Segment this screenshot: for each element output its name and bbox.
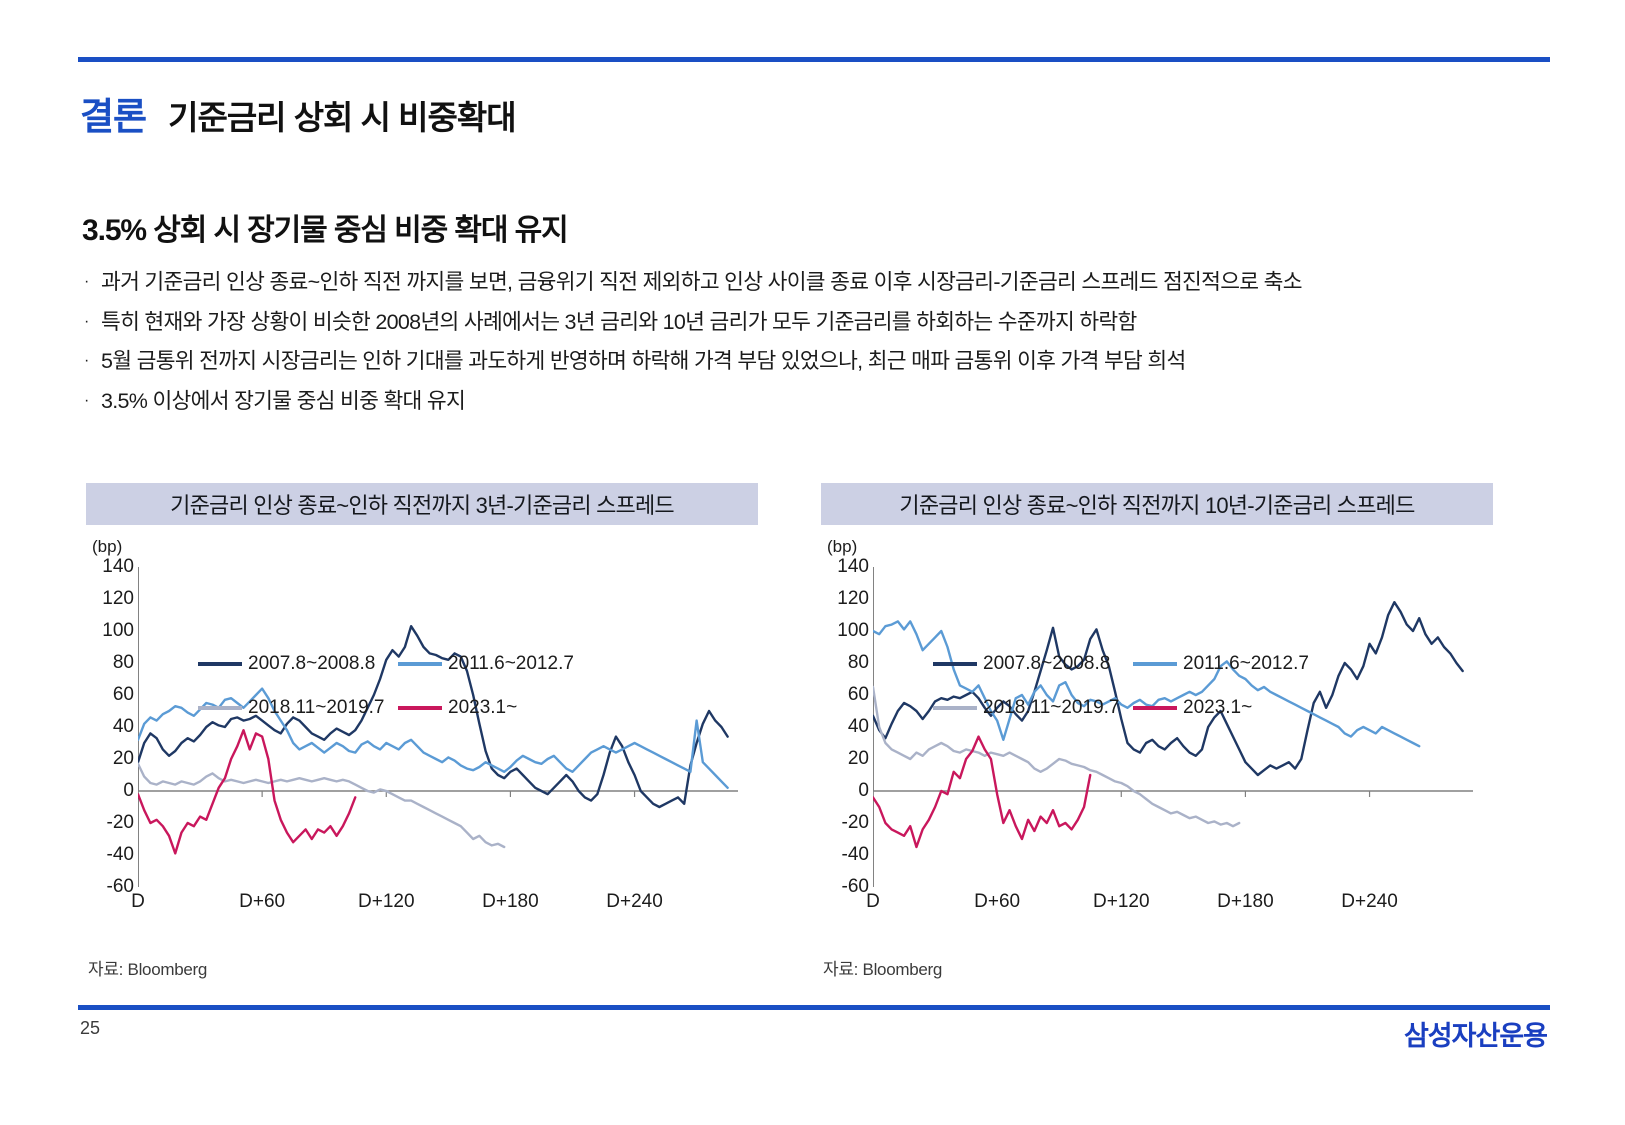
top-divider xyxy=(78,57,1550,62)
y-axis-labels-3y: 140120100806040200-20-40-60 xyxy=(86,567,134,887)
series-line xyxy=(138,730,355,853)
x-axis-labels-3y: DD+60D+120D+180D+240 xyxy=(138,891,738,921)
y-tick-label: 120 xyxy=(102,588,134,610)
y-tick-label: 20 xyxy=(848,748,869,770)
x-tick-label: D xyxy=(866,891,880,913)
section-heading: 3.5% 상회 시 장기물 중심 비중 확대 유지 xyxy=(82,205,568,249)
plot-area-3y: 140120100806040200-20-40-60 DD+60D+120D+… xyxy=(86,567,758,917)
y-tick-label: 60 xyxy=(848,684,869,706)
page-number: 25 xyxy=(80,1018,100,1039)
y-tick-label: 0 xyxy=(858,780,869,802)
bottom-divider xyxy=(78,1005,1550,1010)
line-chart-svg-10y xyxy=(873,567,1473,887)
x-tick-label: D+60 xyxy=(974,891,1020,913)
series-line xyxy=(873,621,1419,746)
page-header: 결론 기준금리 상회 시 비중확대 xyxy=(80,86,516,140)
y-tick-label: 120 xyxy=(837,588,869,610)
y-axis-labels-10y: 140120100806040200-20-40-60 xyxy=(821,567,869,887)
chart-source-3y: 자료: Bloomberg xyxy=(88,955,207,980)
bullet-text: 5월 금통위 전까지 시장금리는 인하 기대를 과도하게 반영하며 하락해 가격… xyxy=(101,351,1186,373)
line-chart-svg-3y xyxy=(138,567,738,887)
y-tick-label: 0 xyxy=(123,780,134,802)
brand-logo: 삼성자산운용 xyxy=(1404,1014,1547,1053)
x-tick-label: D+180 xyxy=(1217,891,1274,913)
x-tick-label: D+120 xyxy=(1093,891,1150,913)
x-tick-label: D+240 xyxy=(1341,891,1398,913)
bullet-marker-icon: · xyxy=(84,351,101,371)
chart-panel-3y: 기준금리 인상 종료~인하 직전까지 3년-기준금리 스프레드 (bp) 140… xyxy=(86,483,758,963)
bullet-item: · 3.5% 이상에서 장기물 중심 비중 확대 유지 xyxy=(84,391,1564,413)
bullet-item: · 특히 현재와 가장 상황이 비슷한 2008년의 사례에서는 3년 금리와 … xyxy=(84,312,1564,334)
x-tick-label: D+180 xyxy=(482,891,539,913)
y-tick-label: -60 xyxy=(107,876,134,898)
y-tick-label: 80 xyxy=(848,652,869,674)
bullet-item: · 과거 기준금리 인상 종료~인하 직전 까지를 보면, 금융위기 직전 제외… xyxy=(84,272,1564,294)
y-tick-label: 100 xyxy=(102,620,134,642)
series-line xyxy=(138,764,504,847)
y-tick-label: 40 xyxy=(113,716,134,738)
x-tick-label: D xyxy=(131,891,145,913)
y-tick-label: -20 xyxy=(107,812,134,834)
chart-title-10y: 기준금리 인상 종료~인하 직전까지 10년-기준금리 스프레드 xyxy=(821,483,1493,525)
bullet-list: · 과거 기준금리 인상 종료~인하 직전 까지를 보면, 금융위기 직전 제외… xyxy=(84,272,1564,430)
y-tick-label: -20 xyxy=(842,812,869,834)
bullet-marker-icon: · xyxy=(84,391,101,411)
bullet-text: 특히 현재와 가장 상황이 비슷한 2008년의 사례에서는 3년 금리와 10… xyxy=(101,312,1137,334)
chart-unit-label-3y: (bp) xyxy=(92,537,122,557)
y-tick-label: 140 xyxy=(837,556,869,578)
slide-root: 결론 기준금리 상회 시 비중확대 3.5% 상회 시 장기물 중심 비중 확대… xyxy=(0,0,1625,1125)
bullet-marker-icon: · xyxy=(84,312,101,332)
y-tick-label: 60 xyxy=(113,684,134,706)
plot-area-10y: 140120100806040200-20-40-60 DD+60D+120D+… xyxy=(821,567,1493,917)
chart-source-10y: 자료: Bloomberg xyxy=(823,955,942,980)
chart-unit-label-10y: (bp) xyxy=(827,537,857,557)
bullet-marker-icon: · xyxy=(84,272,101,292)
y-tick-label: 100 xyxy=(837,620,869,642)
y-tick-label: 20 xyxy=(113,748,134,770)
x-tick-label: D+60 xyxy=(239,891,285,913)
bullet-item: · 5월 금통위 전까지 시장금리는 인하 기대를 과도하게 반영하며 하락해 … xyxy=(84,351,1564,373)
chart-title-3y: 기준금리 인상 종료~인하 직전까지 3년-기준금리 스프레드 xyxy=(86,483,758,525)
y-tick-label: -40 xyxy=(842,844,869,866)
series-line xyxy=(873,687,1239,826)
y-tick-label: -40 xyxy=(107,844,134,866)
bullet-text: 과거 기준금리 인상 종료~인하 직전 까지를 보면, 금융위기 직전 제외하고… xyxy=(101,272,1302,294)
y-tick-label: 40 xyxy=(848,716,869,738)
y-tick-label: 140 xyxy=(102,556,134,578)
series-line xyxy=(873,602,1463,775)
x-axis-labels-10y: DD+60D+120D+180D+240 xyxy=(873,891,1473,921)
chart-panel-10y: 기준금리 인상 종료~인하 직전까지 10년-기준금리 스프레드 (bp) 14… xyxy=(821,483,1493,963)
header-kicker: 결론 xyxy=(80,86,146,140)
y-tick-label: 80 xyxy=(113,652,134,674)
x-tick-label: D+120 xyxy=(358,891,415,913)
page-title: 기준금리 상회 시 비중확대 xyxy=(168,91,515,139)
bullet-text: 3.5% 이상에서 장기물 중심 비중 확대 유지 xyxy=(101,391,465,413)
y-tick-label: -60 xyxy=(842,876,869,898)
x-tick-label: D+240 xyxy=(606,891,663,913)
